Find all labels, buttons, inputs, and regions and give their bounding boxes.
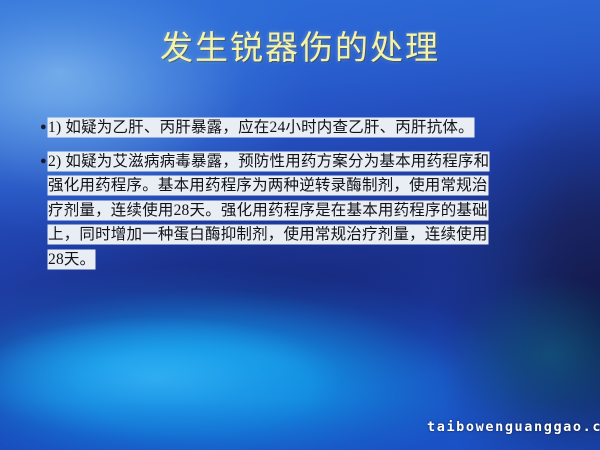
- watermark-text: taibowenguanggao.com: [427, 419, 600, 435]
- bullet-text-1: 1) 如疑为乙肝、丙肝暴露，应在24小时内查乙肝、丙肝抗体。: [48, 116, 564, 141]
- text-line: 强化用药程序。基本用药程序为两种逆转录酶制剂，使用常规治: [48, 174, 564, 199]
- text-line: 28天。: [48, 248, 564, 273]
- text-line: 2) 如疑为艾滋病病毒暴露，预防性用药方案分为基本用药程序和: [48, 150, 564, 175]
- text-line: 1) 如疑为乙肝、丙肝暴露，应在24小时内查乙肝、丙肝抗体。: [48, 116, 564, 141]
- list-item: ● 2) 如疑为艾滋病病毒暴露，预防性用药方案分为基本用药程序和 强化用药程序。…: [40, 150, 564, 273]
- slide-title: 发生锐器伤的处理: [0, 28, 600, 70]
- text-line: 疗剂量，连续使用28天。强化用药程序是在基本用药程序的基础: [48, 199, 564, 224]
- text-line: 上，同时增加一种蛋白酶抑制剂，使用常规治疗剂量，连续使用: [48, 223, 564, 248]
- bullet-point-icon: ●: [40, 150, 48, 163]
- slide-body: ● 1) 如疑为乙肝、丙肝暴露，应在24小时内查乙肝、丙肝抗体。 ● 2) 如疑…: [40, 116, 564, 281]
- bullet-text-2: 2) 如疑为艾滋病病毒暴露，预防性用药方案分为基本用药程序和 强化用药程序。基本…: [48, 150, 564, 273]
- list-item: ● 1) 如疑为乙肝、丙肝暴露，应在24小时内查乙肝、丙肝抗体。: [40, 116, 564, 141]
- bullet-point-icon: ●: [40, 116, 48, 129]
- slide-canvas: 发生锐器伤的处理 ● 1) 如疑为乙肝、丙肝暴露，应在24小时内查乙肝、丙肝抗体…: [0, 0, 600, 450]
